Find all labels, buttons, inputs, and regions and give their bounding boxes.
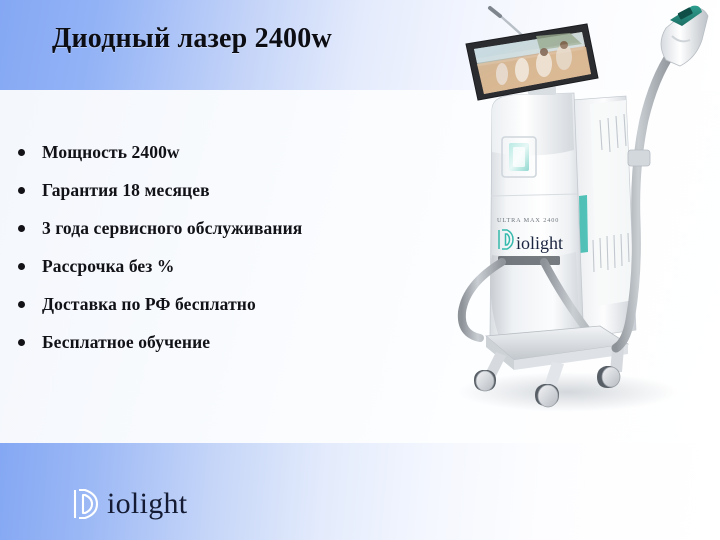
product-image: ULTRA MAX 2400 iolight [440,0,720,440]
device-front-icon-inner [513,147,525,167]
diolight-d-icon [72,487,102,521]
list-item: 3 года сервисного обслуживания [0,209,440,247]
device-drawer-slot [498,256,560,265]
device-caster-front [535,384,559,407]
screen-figure-1 [496,63,508,85]
bullet-dot-icon [18,339,25,346]
page-title: Диодный лазер 2400w [52,23,332,55]
bullet-dot-icon [18,225,25,232]
brand-logo: iolight [72,487,187,521]
device-top-cap [492,93,574,156]
device-model-label: ULTRA MAX 2400 [497,217,559,224]
feature-label: Мощность 2400w [42,142,180,163]
feature-list: Мощность 2400w Гарантия 18 месяцев 3 год… [0,133,440,361]
bullet-dot-icon [18,187,25,194]
device-monitor [466,24,598,100]
device-caster-right [597,366,620,388]
device-brand-label: iolight [516,233,563,253]
screen-figure-2 [515,58,529,82]
list-item: Бесплатное обучение [0,323,440,361]
list-item: Доставка по РФ бесплатно [0,285,440,323]
feature-label: Доставка по РФ бесплатно [42,294,256,315]
feature-label: Гарантия 18 месяцев [42,180,210,201]
hose-clip [628,150,650,166]
list-item: Рассрочка без % [0,247,440,285]
feature-label: Рассрочка без % [42,256,175,277]
list-item: Гарантия 18 месяцев [0,171,440,209]
handpiece [661,6,708,66]
avito-label: Avito [665,511,710,530]
list-item: Мощность 2400w [0,133,440,171]
bullet-dot-icon [18,263,25,270]
device-caster-left [474,370,496,391]
feature-label: 3 года сервисного обслуживания [42,218,302,239]
device-rod-tip [490,8,500,16]
bullet-dot-icon [18,301,25,308]
avito-watermark: Avito [642,511,710,530]
bullet-dot-icon [18,149,25,156]
avito-dots-icon [642,511,661,530]
feature-label: Бесплатное обучение [42,332,210,353]
brand-name: iolight [107,489,187,519]
promo-slide: ULTRA MAX 2400 iolight [0,0,720,540]
